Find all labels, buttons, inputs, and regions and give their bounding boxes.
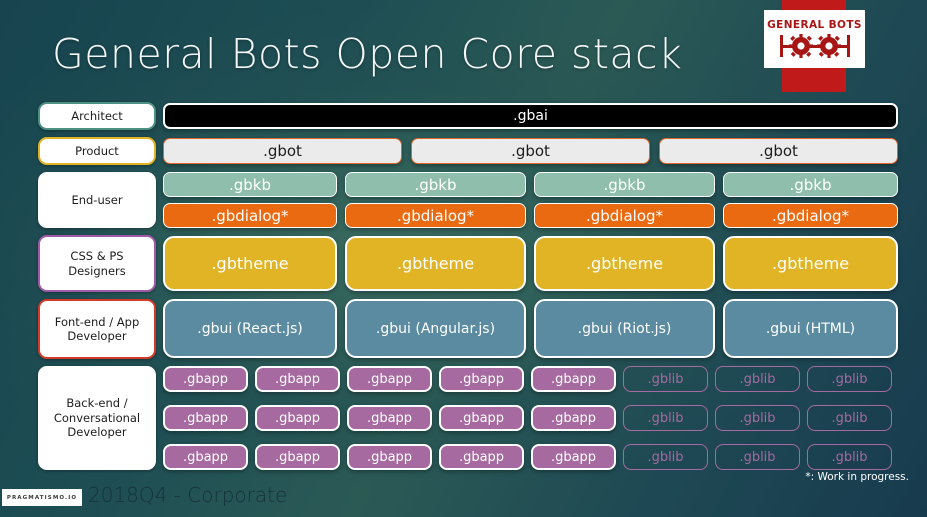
layer-cell-gbkb[interactable]: .gbkb bbox=[723, 172, 898, 197]
layer-cell-gbot[interactable]: .gbot bbox=[659, 138, 898, 164]
layer-cell-gbui-angular[interactable]: .gbui (Angular.js) bbox=[345, 299, 526, 358]
layer-cell-gbapp[interactable]: .gbapp bbox=[347, 366, 432, 392]
pragmatismo-wordmark: PRAGMATISMO.IO bbox=[7, 495, 77, 501]
layer-cell-gblib[interactable]: .gblib bbox=[715, 366, 800, 392]
pragmatismo-badge: PRAGMATISMO.IO bbox=[2, 489, 82, 506]
role-label-backend-conversational-developer: Back-end / Conversational Developer bbox=[38, 366, 156, 470]
layer-cell-gbapp[interactable]: .gbapp bbox=[163, 444, 248, 470]
layer-cell-gblib[interactable]: .gblib bbox=[807, 366, 892, 392]
layer-cell-gblib[interactable]: .gblib bbox=[807, 405, 892, 431]
layer-cell-gblib[interactable]: .gblib bbox=[715, 405, 800, 431]
layer-cell-gbapp[interactable]: .gbapp bbox=[163, 405, 248, 431]
role-label-css-ps-designers: CSS & PS Designers bbox=[38, 235, 156, 292]
layer-cell-gbdialog[interactable]: .gbdialog* bbox=[723, 203, 898, 228]
layer-cell-gbai[interactable]: .gbai bbox=[163, 103, 898, 129]
layer-cell-gbkb[interactable]: .gbkb bbox=[534, 172, 715, 197]
slide-footer: *: Work in progress. PRAGMATISMO.IO 2018… bbox=[0, 477, 927, 517]
role-label-architect: Architect bbox=[38, 102, 156, 130]
layer-cell-gblib[interactable]: .gblib bbox=[623, 366, 708, 392]
layer-cell-gbtheme[interactable]: .gbtheme bbox=[163, 236, 337, 291]
layer-cell-gbapp[interactable]: .gbapp bbox=[531, 444, 616, 470]
layer-cell-gbdialog[interactable]: .gbdialog* bbox=[345, 203, 526, 228]
layer-cell-gbot[interactable]: .gbot bbox=[163, 138, 402, 164]
general-bots-logo: GENERAL BOTS bbox=[782, 0, 846, 92]
role-label-frontend-app-developer: Font-end / App Developer bbox=[38, 299, 156, 359]
layer-cell-gbtheme[interactable]: .gbtheme bbox=[723, 236, 898, 291]
layer-cell-gbkb[interactable]: .gbkb bbox=[163, 172, 337, 197]
layer-cell-gblib[interactable]: .gblib bbox=[715, 444, 800, 470]
work-in-progress-note: *: Work in progress. bbox=[805, 471, 909, 483]
layer-cell-gbapp[interactable]: .gbapp bbox=[255, 405, 340, 431]
role-label-product: Product bbox=[38, 137, 156, 165]
layer-cell-gbapp[interactable]: .gbapp bbox=[347, 444, 432, 470]
layer-cell-gbapp[interactable]: .gbapp bbox=[531, 366, 616, 392]
role-label-end-user: End-user bbox=[38, 172, 156, 228]
layer-cell-gbui-react[interactable]: .gbui (React.js) bbox=[163, 299, 337, 358]
layer-cell-gbui-riot[interactable]: .gbui (Riot.js) bbox=[534, 299, 715, 358]
layer-cell-gbapp[interactable]: .gbapp bbox=[531, 405, 616, 431]
layer-cell-gblib[interactable]: .gblib bbox=[623, 444, 708, 470]
logo-wordmark: GENERAL BOTS bbox=[767, 19, 862, 31]
page-title: General Bots Open Core stack bbox=[52, 30, 682, 78]
layer-cell-gbdialog[interactable]: .gbdialog* bbox=[534, 203, 715, 228]
layer-cell-gbapp[interactable]: .gbapp bbox=[347, 405, 432, 431]
layer-cell-gbapp[interactable]: .gbapp bbox=[255, 366, 340, 392]
footer-label: 2018Q4 - Corporate bbox=[88, 483, 287, 507]
layer-cell-gblib[interactable]: .gblib bbox=[623, 405, 708, 431]
layer-cell-gblib[interactable]: .gblib bbox=[807, 444, 892, 470]
gears-icon bbox=[776, 33, 854, 59]
layer-cell-gbapp[interactable]: .gbapp bbox=[163, 366, 248, 392]
layer-cell-gbdialog[interactable]: .gbdialog* bbox=[163, 203, 337, 228]
logo-card: GENERAL BOTS bbox=[764, 10, 865, 68]
layer-cell-gbapp[interactable]: .gbapp bbox=[439, 366, 524, 392]
layer-cell-gbot[interactable]: .gbot bbox=[411, 138, 650, 164]
layer-cell-gbapp[interactable]: .gbapp bbox=[255, 444, 340, 470]
layer-cell-gbapp[interactable]: .gbapp bbox=[439, 444, 524, 470]
layer-cell-gbui-html[interactable]: .gbui (HTML) bbox=[723, 299, 898, 358]
layer-cell-gbtheme[interactable]: .gbtheme bbox=[534, 236, 715, 291]
layer-cell-gbapp[interactable]: .gbapp bbox=[439, 405, 524, 431]
layer-cell-gbtheme[interactable]: .gbtheme bbox=[345, 236, 526, 291]
slide-canvas: General Bots Open Core stack GENERAL BOT… bbox=[0, 0, 927, 517]
layer-cell-gbkb[interactable]: .gbkb bbox=[345, 172, 526, 197]
